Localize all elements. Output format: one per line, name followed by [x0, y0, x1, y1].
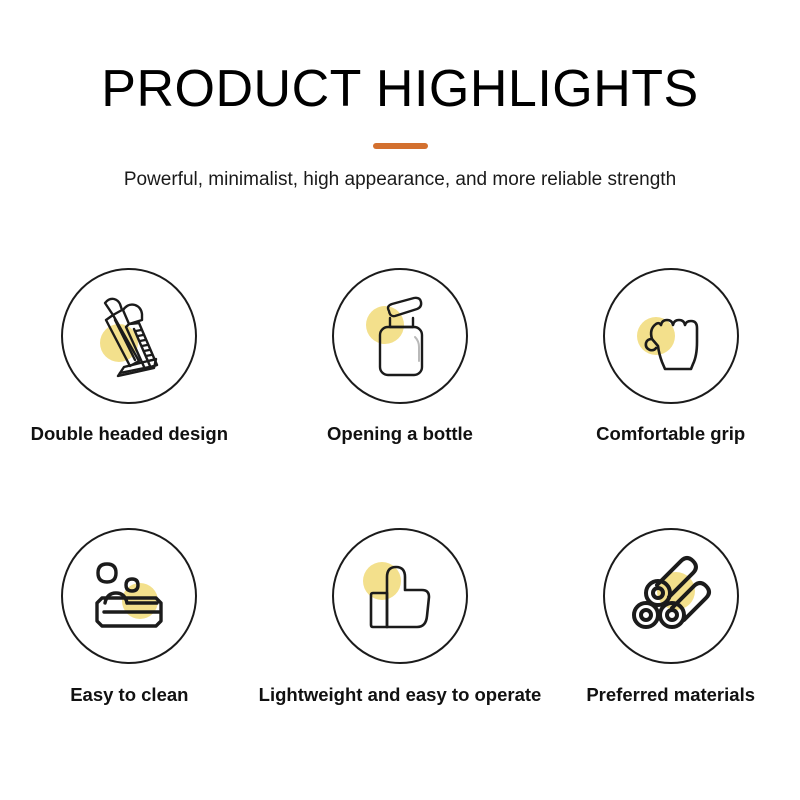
feature-item-double-headed-design: Double headed design: [0, 268, 259, 528]
feature-label: Easy to clean: [70, 684, 188, 706]
features-grid: Double headed design: [0, 268, 800, 788]
product-highlights-page: PRODUCT HIGHLIGHTS Powerful, minimalist,…: [0, 0, 800, 800]
feature-item-opening-a-bottle: Opening a bottle: [259, 268, 542, 528]
feature-label: Lightweight and easy to operate: [259, 684, 542, 706]
icon-circle: [61, 268, 197, 404]
feature-label: Opening a bottle: [327, 423, 473, 445]
gripping-hand-icon: [616, 281, 726, 391]
feature-label: Double headed design: [31, 423, 228, 445]
icon-circle: [603, 268, 739, 404]
bottle-opener-icon: [345, 281, 455, 391]
feature-item-comfortable-grip: Comfortable grip: [541, 268, 800, 528]
page-subtitle: Powerful, minimalist, high appearance, a…: [0, 169, 800, 191]
stacked-pipes-icon: [616, 541, 726, 651]
feature-label: Preferred materials: [586, 684, 755, 706]
icon-circle: [332, 528, 468, 664]
title-divider-wrap: [0, 143, 800, 149]
icon-circle: [603, 528, 739, 664]
icon-circle: [332, 268, 468, 404]
title-divider: [373, 143, 428, 149]
icon-circle: [61, 528, 197, 664]
thumbs-up-icon: [345, 541, 455, 651]
feature-item-preferred-materials: Preferred materials: [541, 528, 800, 788]
feature-item-easy-to-clean: Easy to clean: [0, 528, 259, 788]
wash-basin-icon: [74, 541, 184, 651]
double-headed-tool-icon: [74, 281, 184, 391]
feature-label: Comfortable grip: [596, 423, 745, 445]
feature-item-lightweight-and-easy-to-operate: Lightweight and easy to operate: [259, 528, 542, 788]
header: PRODUCT HIGHLIGHTS Powerful, minimalist,…: [0, 0, 800, 191]
page-title: PRODUCT HIGHLIGHTS: [0, 62, 800, 117]
